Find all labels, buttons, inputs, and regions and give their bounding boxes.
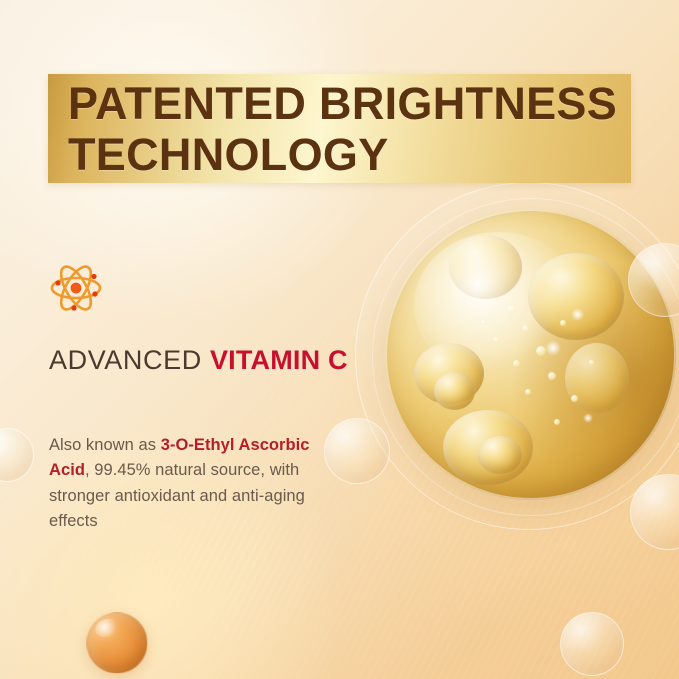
translucent-bubble — [560, 612, 624, 676]
description-comma: , — [85, 461, 90, 479]
product-feature-graphic: PATENTED BRIGHTNESS TECHNOLOGY ADVANCED … — [0, 0, 679, 679]
headline-banner: PATENTED BRIGHTNESS TECHNOLOGY — [48, 74, 631, 183]
capsule-highlight — [93, 616, 121, 641]
orange-gel-capsule — [86, 612, 148, 674]
translucent-bubble — [324, 418, 390, 484]
atom-icon — [49, 263, 103, 313]
description-lead: Also known as — [49, 436, 156, 454]
golden-serum-droplet — [385, 209, 676, 500]
ingredient-description: Also known as 3-O-Ethyl Ascorbic Acid, 9… — [49, 433, 329, 535]
page-title: PATENTED BRIGHTNESS TECHNOLOGY — [68, 78, 628, 180]
description-purity: 99.45% natural source, — [94, 461, 265, 479]
droplet-rim-light — [385, 209, 676, 500]
ingredient-heading: ADVANCED VITAMIN C — [49, 344, 348, 376]
ingredient-heading-prefix: ADVANCED — [49, 345, 202, 375]
ingredient-heading-highlight: VITAMIN C — [210, 345, 348, 375]
